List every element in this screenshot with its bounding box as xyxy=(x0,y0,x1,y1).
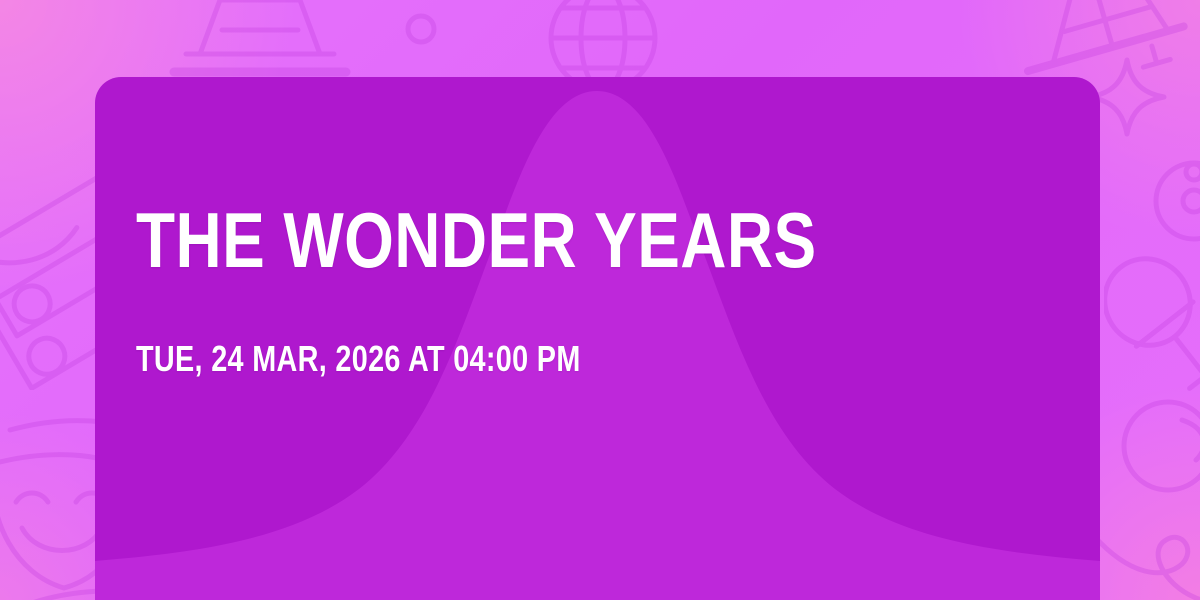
event-datetime: TUE, 24 MAR, 2026 AT 04:00 PM xyxy=(136,341,581,377)
card-content: THE WONDER YEARS TUE, 24 MAR, 2026 AT 04… xyxy=(136,77,1060,600)
event-title: THE WONDER YEARS xyxy=(136,201,817,279)
circle-dot-icon xyxy=(396,4,446,54)
event-card[interactable]: THE WONDER YEARS TUE, 24 MAR, 2026 AT 04… xyxy=(95,77,1100,600)
event-banner: THE WONDER YEARS TUE, 24 MAR, 2026 AT 04… xyxy=(0,0,1200,600)
ribbon-swirl-icon xyxy=(1086,468,1200,600)
megaphone-icon xyxy=(1104,228,1200,408)
